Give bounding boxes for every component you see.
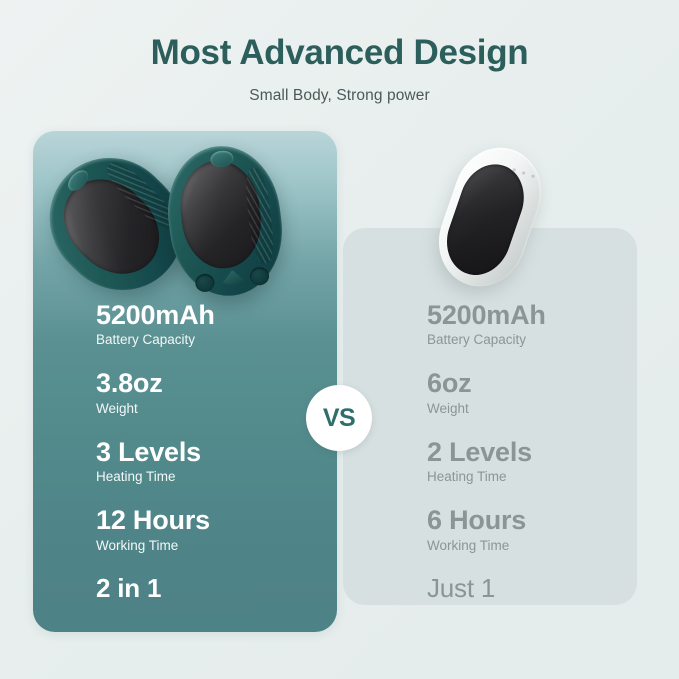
page-title: Most Advanced Design (0, 34, 679, 73)
left-spec-combo: 2 in 1 (96, 574, 215, 603)
right-spec-weight-value: 6oz (427, 368, 546, 398)
left-spec-working-value: 12 Hours (96, 505, 215, 535)
device-b-port-right (249, 266, 270, 286)
device-b-emblem (221, 269, 245, 287)
device-b-port-left (194, 272, 215, 292)
right-spec-heating-value: 2 Levels (427, 437, 546, 467)
right-spec-battery: 5200mAh Battery Capacity (427, 300, 546, 350)
left-spec-heating-value: 3 Levels (96, 437, 215, 467)
right-spec-working: 6 Hours Working Time (427, 505, 546, 555)
right-product-image (343, 140, 637, 300)
right-spec-weight: 6oz Weight (427, 368, 546, 418)
right-spec-heating-label: Heating Time (427, 467, 546, 487)
right-spec-battery-value: 5200mAh (427, 300, 546, 330)
left-spec-working-label: Working Time (96, 536, 215, 556)
right-spec-working-value: 6 Hours (427, 505, 546, 535)
left-spec-weight: 3.8oz Weight (96, 368, 215, 418)
left-spec-weight-value: 3.8oz (96, 368, 215, 398)
left-spec-list: 5200mAh Battery Capacity 3.8oz Weight 3 … (96, 300, 215, 603)
right-spec-weight-label: Weight (427, 399, 546, 419)
left-product-image (33, 131, 337, 306)
right-spec-list: 5200mAh Battery Capacity 6oz Weight 2 Le… (427, 300, 546, 603)
left-spec-heating: 3 Levels Heating Time (96, 437, 215, 487)
right-spec-working-label: Working Time (427, 536, 546, 556)
vs-badge: VS (306, 385, 372, 451)
left-spec-battery: 5200mAh Battery Capacity (96, 300, 215, 350)
left-spec-working: 12 Hours Working Time (96, 505, 215, 555)
left-spec-battery-value: 5200mAh (96, 300, 215, 330)
left-spec-combo-value: 2 in 1 (96, 574, 215, 603)
header: Most Advanced Design Small Body, Strong … (0, 34, 679, 105)
white-hand-warmer-device (426, 136, 554, 298)
right-spec-battery-label: Battery Capacity (427, 330, 546, 350)
vs-badge-label: VS (323, 404, 355, 433)
right-spec-combo-value: Just 1 (427, 574, 546, 603)
left-spec-battery-label: Battery Capacity (96, 330, 215, 350)
infographic-page: Most Advanced Design Small Body, Strong … (0, 0, 679, 679)
left-spec-heating-label: Heating Time (96, 467, 215, 487)
left-spec-weight-label: Weight (96, 399, 215, 419)
hand-warmer-device-b (160, 140, 289, 303)
right-spec-heating: 2 Levels Heating Time (427, 437, 546, 487)
page-subtitle: Small Body, Strong power (0, 87, 679, 105)
right-spec-combo: Just 1 (427, 574, 546, 603)
